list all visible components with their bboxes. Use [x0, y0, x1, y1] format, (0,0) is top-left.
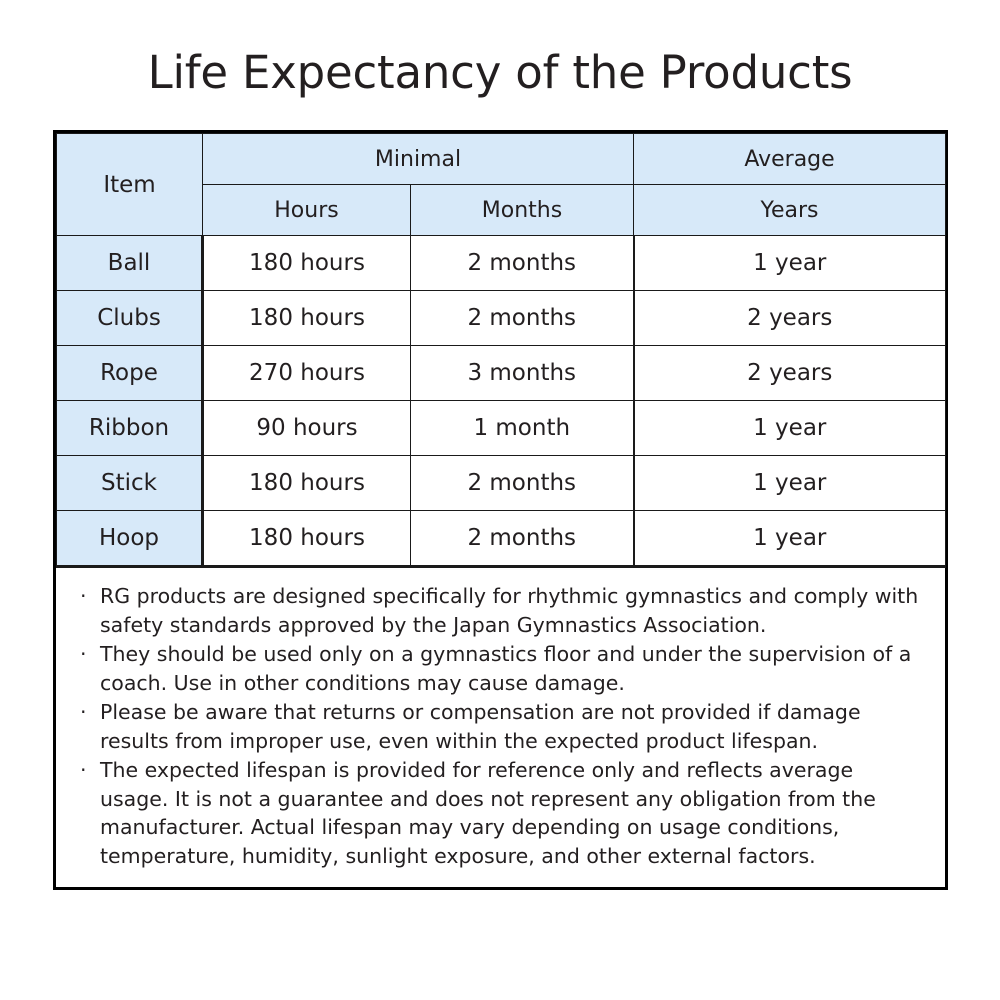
cell-months: 2 months — [411, 456, 634, 511]
cell-hours: 180 hours — [203, 511, 411, 567]
column-header-hours: Hours — [203, 185, 411, 236]
cell-hours: 270 hours — [203, 346, 411, 401]
column-header-years: Years — [634, 185, 946, 236]
cell-months: 2 months — [411, 291, 634, 346]
cell-months: 1 month — [411, 401, 634, 456]
table-row: Clubs 180 hours 2 months 2 years — [57, 291, 946, 346]
cell-item: Stick — [57, 456, 203, 511]
table-row: Ball 180 hours 2 months 1 year — [57, 236, 946, 291]
table-row: Stick 180 hours 2 months 1 year — [57, 456, 946, 511]
cell-years: 1 year — [634, 401, 946, 456]
cell-months: 3 months — [411, 346, 634, 401]
cell-item: Hoop — [57, 511, 203, 567]
bullet-icon: · — [80, 756, 87, 785]
cell-item: Ball — [57, 236, 203, 291]
cell-hours: 180 hours — [203, 291, 411, 346]
column-header-months: Months — [411, 185, 634, 236]
cell-hours: 180 hours — [203, 456, 411, 511]
page-title: Life Expectancy of the Products — [0, 47, 1000, 99]
note-item: · RG products are designed specifically … — [74, 582, 927, 639]
notes-section: · RG products are designed specifically … — [56, 568, 945, 887]
spec-card: Item Minimal Average Hours Months Years … — [53, 130, 948, 890]
cell-months: 2 months — [411, 236, 634, 291]
page-root: Life Expectancy of the Products Item Min… — [0, 0, 1000, 1000]
cell-years: 1 year — [634, 236, 946, 291]
life-expectancy-table: Item Minimal Average Hours Months Years … — [56, 133, 946, 568]
bullet-icon: · — [80, 640, 87, 669]
note-text: Please be aware that returns or compensa… — [100, 700, 861, 753]
note-text: They should be used only on a gymnastics… — [100, 642, 911, 695]
cell-months: 2 months — [411, 511, 634, 567]
cell-hours: 90 hours — [203, 401, 411, 456]
table-body: Ball 180 hours 2 months 1 year Clubs 180… — [57, 236, 946, 567]
table-header: Item Minimal Average Hours Months Years — [57, 134, 946, 236]
column-header-minimal: Minimal — [203, 134, 634, 185]
cell-years: 1 year — [634, 456, 946, 511]
cell-item: Clubs — [57, 291, 203, 346]
notes-list: · RG products are designed specifically … — [74, 582, 927, 870]
column-header-item: Item — [57, 134, 203, 236]
table-row: Rope 270 hours 3 months 2 years — [57, 346, 946, 401]
table-header-row-groups: Item Minimal Average — [57, 134, 946, 185]
note-text: RG products are designed specifically fo… — [100, 584, 918, 637]
cell-item: Ribbon — [57, 401, 203, 456]
column-header-average: Average — [634, 134, 946, 185]
note-item: · They should be used only on a gymnasti… — [74, 640, 927, 697]
cell-years: 2 years — [634, 291, 946, 346]
note-item: · The expected lifespan is provided for … — [74, 756, 927, 870]
bullet-icon: · — [80, 698, 87, 727]
cell-item: Rope — [57, 346, 203, 401]
table-row: Hoop 180 hours 2 months 1 year — [57, 511, 946, 567]
cell-years: 1 year — [634, 511, 946, 567]
bullet-icon: · — [80, 582, 87, 611]
cell-hours: 180 hours — [203, 236, 411, 291]
table-row: Ribbon 90 hours 1 month 1 year — [57, 401, 946, 456]
note-text: The expected lifespan is provided for re… — [100, 758, 876, 868]
note-item: · Please be aware that returns or compen… — [74, 698, 927, 755]
cell-years: 2 years — [634, 346, 946, 401]
